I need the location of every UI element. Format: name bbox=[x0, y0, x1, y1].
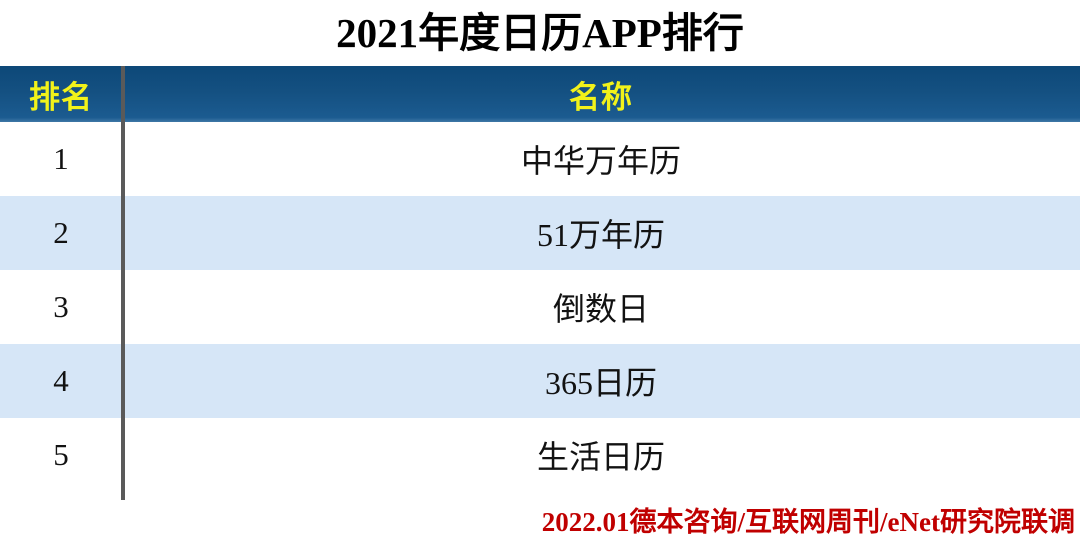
table-row: 3 倒数日 bbox=[0, 270, 1080, 344]
cell-name: 中华万年历 bbox=[122, 122, 1080, 196]
cell-name: 生活日历 bbox=[122, 418, 1080, 492]
cell-rank: 3 bbox=[0, 270, 122, 344]
cell-rank: 4 bbox=[0, 344, 122, 418]
cell-name: 365日历 bbox=[122, 344, 1080, 418]
column-divider bbox=[121, 66, 125, 500]
column-header-name: 名称 bbox=[122, 66, 1080, 122]
cell-rank: 5 bbox=[0, 418, 122, 492]
cell-name: 51万年历 bbox=[122, 196, 1080, 270]
table-row: 5 生活日历 bbox=[0, 418, 1080, 492]
cell-rank: 2 bbox=[0, 196, 122, 270]
table-row: 4 365日历 bbox=[0, 344, 1080, 418]
table-row: 1 中华万年历 bbox=[0, 122, 1080, 196]
ranking-page: 2021年度日历APP排行 排名 名称 1 中华万年历 2 51万年历 3 倒数… bbox=[0, 0, 1080, 551]
footer-credit: 2022.01德本咨询/互联网周刊/eNet研究院联调 bbox=[542, 500, 1075, 544]
table-body: 1 中华万年历 2 51万年历 3 倒数日 4 365日历 5 生活日历 bbox=[0, 122, 1080, 492]
ranking-table: 排名 名称 1 中华万年历 2 51万年历 3 倒数日 4 365日历 5 bbox=[0, 66, 1080, 492]
table-header: 排名 名称 bbox=[0, 66, 1080, 122]
table-header-row: 排名 名称 bbox=[0, 66, 1080, 122]
cell-name: 倒数日 bbox=[122, 270, 1080, 344]
cell-rank: 1 bbox=[0, 122, 122, 196]
column-header-rank: 排名 bbox=[0, 66, 122, 122]
table-row: 2 51万年历 bbox=[0, 196, 1080, 270]
page-title: 2021年度日历APP排行 bbox=[0, 3, 1080, 63]
